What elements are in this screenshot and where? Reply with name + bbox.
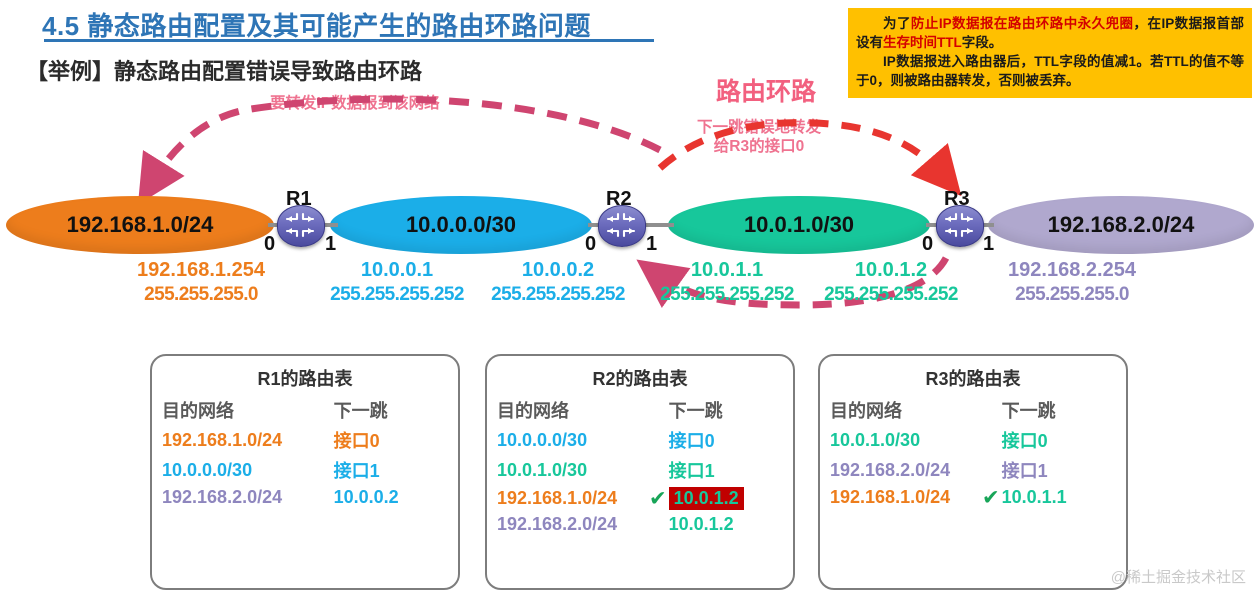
annotation-wrong-next-hop: 下一跳错误地转发 给R3的接口0 xyxy=(697,118,821,157)
interface-mask-1: 255.255.255.252 xyxy=(312,283,482,307)
routing-table-r1-next-1: 接口1 xyxy=(334,457,448,483)
link-r2-net3 xyxy=(642,223,674,227)
routing-table-r1-next-0: 接口0 xyxy=(334,427,448,453)
interface-ip-1: 10.0.0.1 xyxy=(312,258,482,283)
router-r2-port-1: 1 xyxy=(646,233,657,256)
check-icon: ✔ xyxy=(649,488,667,509)
routing-table-r3-next-0: 接口0 xyxy=(1002,427,1116,453)
annotation-wrong-next-hop-line1: 下一跳错误地转发 xyxy=(697,118,821,137)
router-r2-port-0: 0 xyxy=(585,233,596,256)
interface-mask-3: 255.255.255.252 xyxy=(642,283,812,307)
router-icon-r3 xyxy=(936,205,982,245)
routing-table-r1-dest-0: 192.168.1.0/24 xyxy=(162,430,334,451)
routing-table-r3-col-next: 下一跳 xyxy=(1002,397,1116,423)
router-r1-port-1: 1 xyxy=(325,233,336,256)
interface-ip-0: 192.168.1.254 xyxy=(106,258,296,283)
routing-table-r2-next-0: 接口0 xyxy=(669,427,783,453)
callout-paragraph-2: IP数据报进入路由器后，TTL字段的值减1。若TTL的值不等于0，则被路由器转发… xyxy=(856,52,1244,90)
table-row: 192.168.2.0/24 10.0.0.2 xyxy=(152,487,458,508)
table-row: 10.0.1.0/30 接口0 xyxy=(820,427,1126,453)
check-icon: ✔ xyxy=(982,487,1000,508)
routing-table-r2-next-3: 10.0.1.2 xyxy=(669,514,783,535)
network-ellipse-10-0-1-0: 10.0.1.0/30 xyxy=(668,196,930,254)
table-row: 192.168.1.0/24 ✔ 10.0.1.2 xyxy=(487,487,793,510)
routing-table-r2-header: 目的网络 下一跳 xyxy=(487,397,793,423)
router-arrows-icon-r3 xyxy=(936,205,982,245)
routing-table-r3-title: R3的路由表 xyxy=(820,365,1126,391)
callout-paragraph-1: 为了防止IP数据报在路由环路中永久兜圈，在IP数据报首部设有生存时间TTL字段。 xyxy=(856,14,1244,52)
router-arrows-icon-r2 xyxy=(598,205,644,245)
routing-table-r2-dest-0: 10.0.0.0/30 xyxy=(497,430,669,451)
page-title: 4.5 静态路由配置及其可能产生的路由环路问题 xyxy=(42,6,591,43)
routing-table-r2-dest-1: 10.0.1.0/30 xyxy=(497,460,669,481)
interface-ip-5: 192.168.2.254 xyxy=(977,258,1167,283)
interface-ip-2: 10.0.0.2 xyxy=(473,258,643,283)
routing-table-r1-col-next: 下一跳 xyxy=(334,397,448,423)
callout-text-c: 字段。 xyxy=(962,35,1003,50)
routing-table-r3-header: 目的网络 下一跳 xyxy=(820,397,1126,423)
title-underline xyxy=(44,39,654,42)
routing-table-r1-col-dest: 目的网络 xyxy=(162,397,334,423)
interface-mask-2: 255.255.255.252 xyxy=(473,283,643,307)
interface-mask-5: 255.255.255.0 xyxy=(977,283,1167,307)
interface-label-10-0-1-2: 10.0.1.2 255.255.255.252 xyxy=(806,258,976,307)
table-row: 192.168.2.0/24 接口1 xyxy=(820,457,1126,483)
interface-mask-4: 255.255.255.252 xyxy=(806,283,976,307)
routing-table-r2-dest-2-text: 192.168.1.0/24 xyxy=(497,488,617,508)
routing-table-r2-dest-2: 192.168.1.0/24 ✔ xyxy=(497,488,669,509)
routing-loop-label: 路由环路 xyxy=(716,72,816,108)
routing-table-r3-col-dest: 目的网络 xyxy=(830,397,1002,423)
routing-table-r1-header: 目的网络 下一跳 xyxy=(152,397,458,423)
routing-table-r1-dest-1: 10.0.0.0/30 xyxy=(162,460,334,481)
routing-table-r2-next-2: 10.0.1.2 xyxy=(669,487,783,510)
routing-table-r2-col-next: 下一跳 xyxy=(669,397,783,423)
network-ellipse-192-168-2-0: 192.168.2.0/24 xyxy=(988,196,1254,254)
watermark: @稀土掘金技术社区 xyxy=(1111,566,1246,587)
routing-table-r2-title: R2的路由表 xyxy=(487,365,793,391)
router-arrows-icon-r1 xyxy=(277,205,323,245)
router-icon-r1 xyxy=(277,205,323,245)
callout-highlight-2: 生存时间TTL xyxy=(883,35,962,50)
interface-mask-0: 255.255.255.0 xyxy=(106,283,296,307)
interface-label-192-168-1-254: 192.168.1.254 255.255.255.0 xyxy=(106,258,296,307)
interface-ip-3: 10.0.1.1 xyxy=(642,258,812,283)
network-ellipse-10-0-0-0: 10.0.0.0/30 xyxy=(330,196,592,254)
routing-table-r1: R1的路由表 目的网络 下一跳 192.168.1.0/24 接口0 10.0.… xyxy=(150,354,460,590)
router-icon-r2 xyxy=(598,205,644,245)
routing-table-r1-dest-2: 192.168.2.0/24 xyxy=(162,487,334,508)
routing-table-r2-col-dest: 目的网络 xyxy=(497,397,669,423)
table-row: 10.0.0.0/30 接口0 xyxy=(487,427,793,453)
interface-label-192-168-2-254: 192.168.2.254 255.255.255.0 xyxy=(977,258,1167,307)
routing-table-r2-next-1: 接口1 xyxy=(669,457,783,483)
network-ellipse-192-168-1-0: 192.168.1.0/24 xyxy=(6,196,274,254)
routing-table-r3-dest-1: 192.168.2.0/24 xyxy=(830,460,1002,481)
routing-table-r2-next-2-highlight: 10.0.1.2 xyxy=(669,487,744,510)
routing-table-r3-dest-2-text: 192.168.1.0/24 xyxy=(830,487,950,507)
annotation-wrong-next-hop-line2: 给R3的接口0 xyxy=(697,137,821,156)
routing-table-r3-next-2: 10.0.1.1 xyxy=(1002,487,1116,508)
router-r3-port-0: 0 xyxy=(922,233,933,256)
routing-table-r2: R2的路由表 目的网络 下一跳 10.0.0.0/30 接口0 10.0.1.0… xyxy=(485,354,795,590)
callout-text-a: 为了 xyxy=(883,16,911,31)
router-r1-port-0: 0 xyxy=(264,233,275,256)
interface-label-10-0-0-1: 10.0.0.1 255.255.255.252 xyxy=(312,258,482,307)
table-row: 192.168.1.0/24 ✔ 10.0.1.1 xyxy=(820,487,1126,508)
routing-table-r2-dest-3: 192.168.2.0/24 xyxy=(497,514,669,535)
routing-table-r3-dest-0: 10.0.1.0/30 xyxy=(830,430,1002,451)
table-row: 192.168.2.0/24 10.0.1.2 xyxy=(487,514,793,535)
routing-table-r1-title: R1的路由表 xyxy=(152,365,458,391)
slide-canvas: 4.5 静态路由配置及其可能产生的路由环路问题 【举例】静态路由配置错误导致路由… xyxy=(0,0,1260,595)
ttl-callout: 为了防止IP数据报在路由环路中永久兜圈，在IP数据报首部设有生存时间TTL字段。… xyxy=(848,8,1252,98)
routing-table-r3: R3的路由表 目的网络 下一跳 10.0.1.0/30 接口0 192.168.… xyxy=(818,354,1128,590)
interface-label-10-0-0-2: 10.0.0.2 255.255.255.252 xyxy=(473,258,643,307)
routing-table-r3-dest-2: 192.168.1.0/24 ✔ xyxy=(830,487,1002,508)
table-row: 10.0.1.0/30 接口1 xyxy=(487,457,793,483)
router-r3-port-1: 1 xyxy=(983,233,994,256)
callout-highlight-1: 防止IP数据报在路由环路中永久兜圈 xyxy=(911,16,1134,31)
interface-label-10-0-1-1: 10.0.1.1 255.255.255.252 xyxy=(642,258,812,307)
annotation-forward-to-network: 要转发IP数据报到该网络 xyxy=(270,94,440,113)
table-row: 10.0.0.0/30 接口1 xyxy=(152,457,458,483)
interface-ip-4: 10.0.1.2 xyxy=(806,258,976,283)
page-subtitle: 【举例】静态路由配置错误导致路由环路 xyxy=(26,54,422,86)
routing-table-r3-next-1: 接口1 xyxy=(1002,457,1116,483)
routing-table-r1-next-2: 10.0.0.2 xyxy=(334,487,448,508)
table-row: 192.168.1.0/24 接口0 xyxy=(152,427,458,453)
